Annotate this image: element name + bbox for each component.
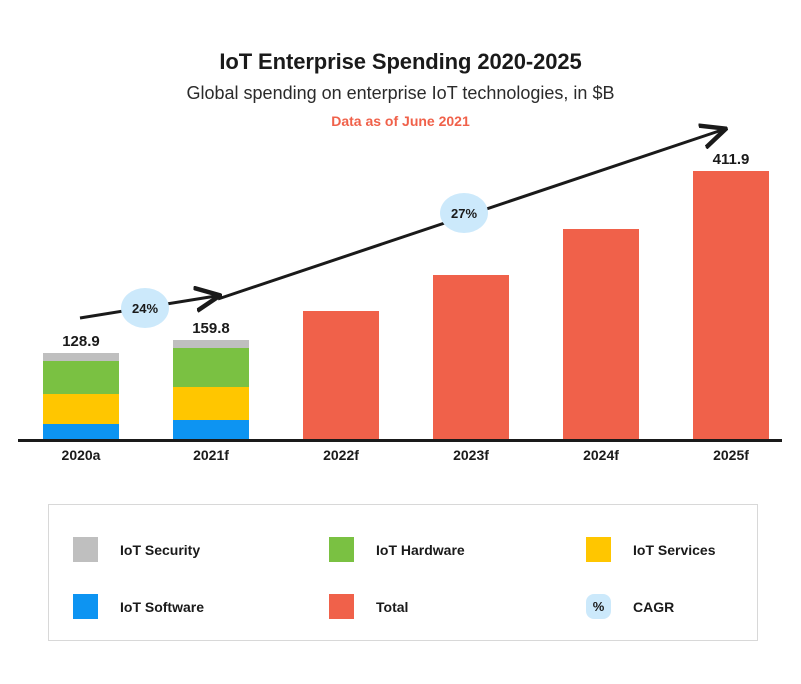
legend-item-label: Total <box>376 599 408 615</box>
bar-2023f[interactable] <box>433 275 509 439</box>
percent-icon: % <box>586 594 611 619</box>
cagr-badge-27: 27% <box>440 193 488 233</box>
x-tick-2025f: 2025f <box>688 447 774 463</box>
legend: IoT Security IoT Hardware IoT Services I… <box>48 504 758 641</box>
bar-segment-services <box>173 387 249 420</box>
legend-item-iot-software[interactable]: IoT Software <box>73 594 204 619</box>
bar-2024f[interactable] <box>563 229 639 439</box>
legend-item-label: IoT Software <box>120 599 204 615</box>
legend-item-iot-hardware[interactable]: IoT Hardware <box>329 537 465 562</box>
bar-2020a[interactable] <box>43 353 119 439</box>
legend-item-total[interactable]: Total <box>329 594 408 619</box>
bar-segment-services <box>43 394 119 424</box>
bar-segment-security <box>173 340 249 348</box>
plot-area: 24% 27% 128.9 159.8 411.9 <box>0 0 801 470</box>
bar-segment-software <box>173 420 249 439</box>
x-tick-2021f: 2021f <box>168 447 254 463</box>
legend-swatch-icon <box>73 594 98 619</box>
x-tick-2020a: 2020a <box>38 447 124 463</box>
x-tick-2024f: 2024f <box>558 447 644 463</box>
bar-value-label-2021f: 159.8 <box>168 320 254 337</box>
legend-swatch-icon <box>329 537 354 562</box>
x-tick-2023f: 2023f <box>428 447 514 463</box>
legend-item-iot-services[interactable]: IoT Services <box>586 537 716 562</box>
legend-item-cagr[interactable]: % CAGR <box>586 594 674 619</box>
legend-item-label: IoT Security <box>120 542 200 558</box>
bar-segment-hardware <box>43 361 119 394</box>
bar-2025f[interactable] <box>693 171 769 439</box>
legend-swatch-icon <box>329 594 354 619</box>
legend-item-label: IoT Services <box>633 542 716 558</box>
bar-value-label-2025f: 411.9 <box>688 151 774 168</box>
cagr-badge-24: 24% <box>121 288 169 328</box>
legend-item-iot-security[interactable]: IoT Security <box>73 537 200 562</box>
bar-segment-hardware <box>173 348 249 387</box>
legend-item-label: CAGR <box>633 599 674 615</box>
bar-2022f[interactable] <box>303 311 379 439</box>
cagr-arrows <box>0 0 801 470</box>
legend-item-label: IoT Hardware <box>376 542 465 558</box>
bar-segment-security <box>43 353 119 361</box>
legend-swatch-icon <box>586 537 611 562</box>
legend-swatch-icon <box>73 537 98 562</box>
x-axis-line <box>18 439 782 442</box>
x-tick-2022f: 2022f <box>298 447 384 463</box>
bar-2021f[interactable] <box>173 340 249 439</box>
chart-container: IoT Enterprise Spending 2020-2025 Global… <box>0 0 801 684</box>
bar-value-label-2020a: 128.9 <box>38 333 124 350</box>
bar-segment-software <box>43 424 119 439</box>
